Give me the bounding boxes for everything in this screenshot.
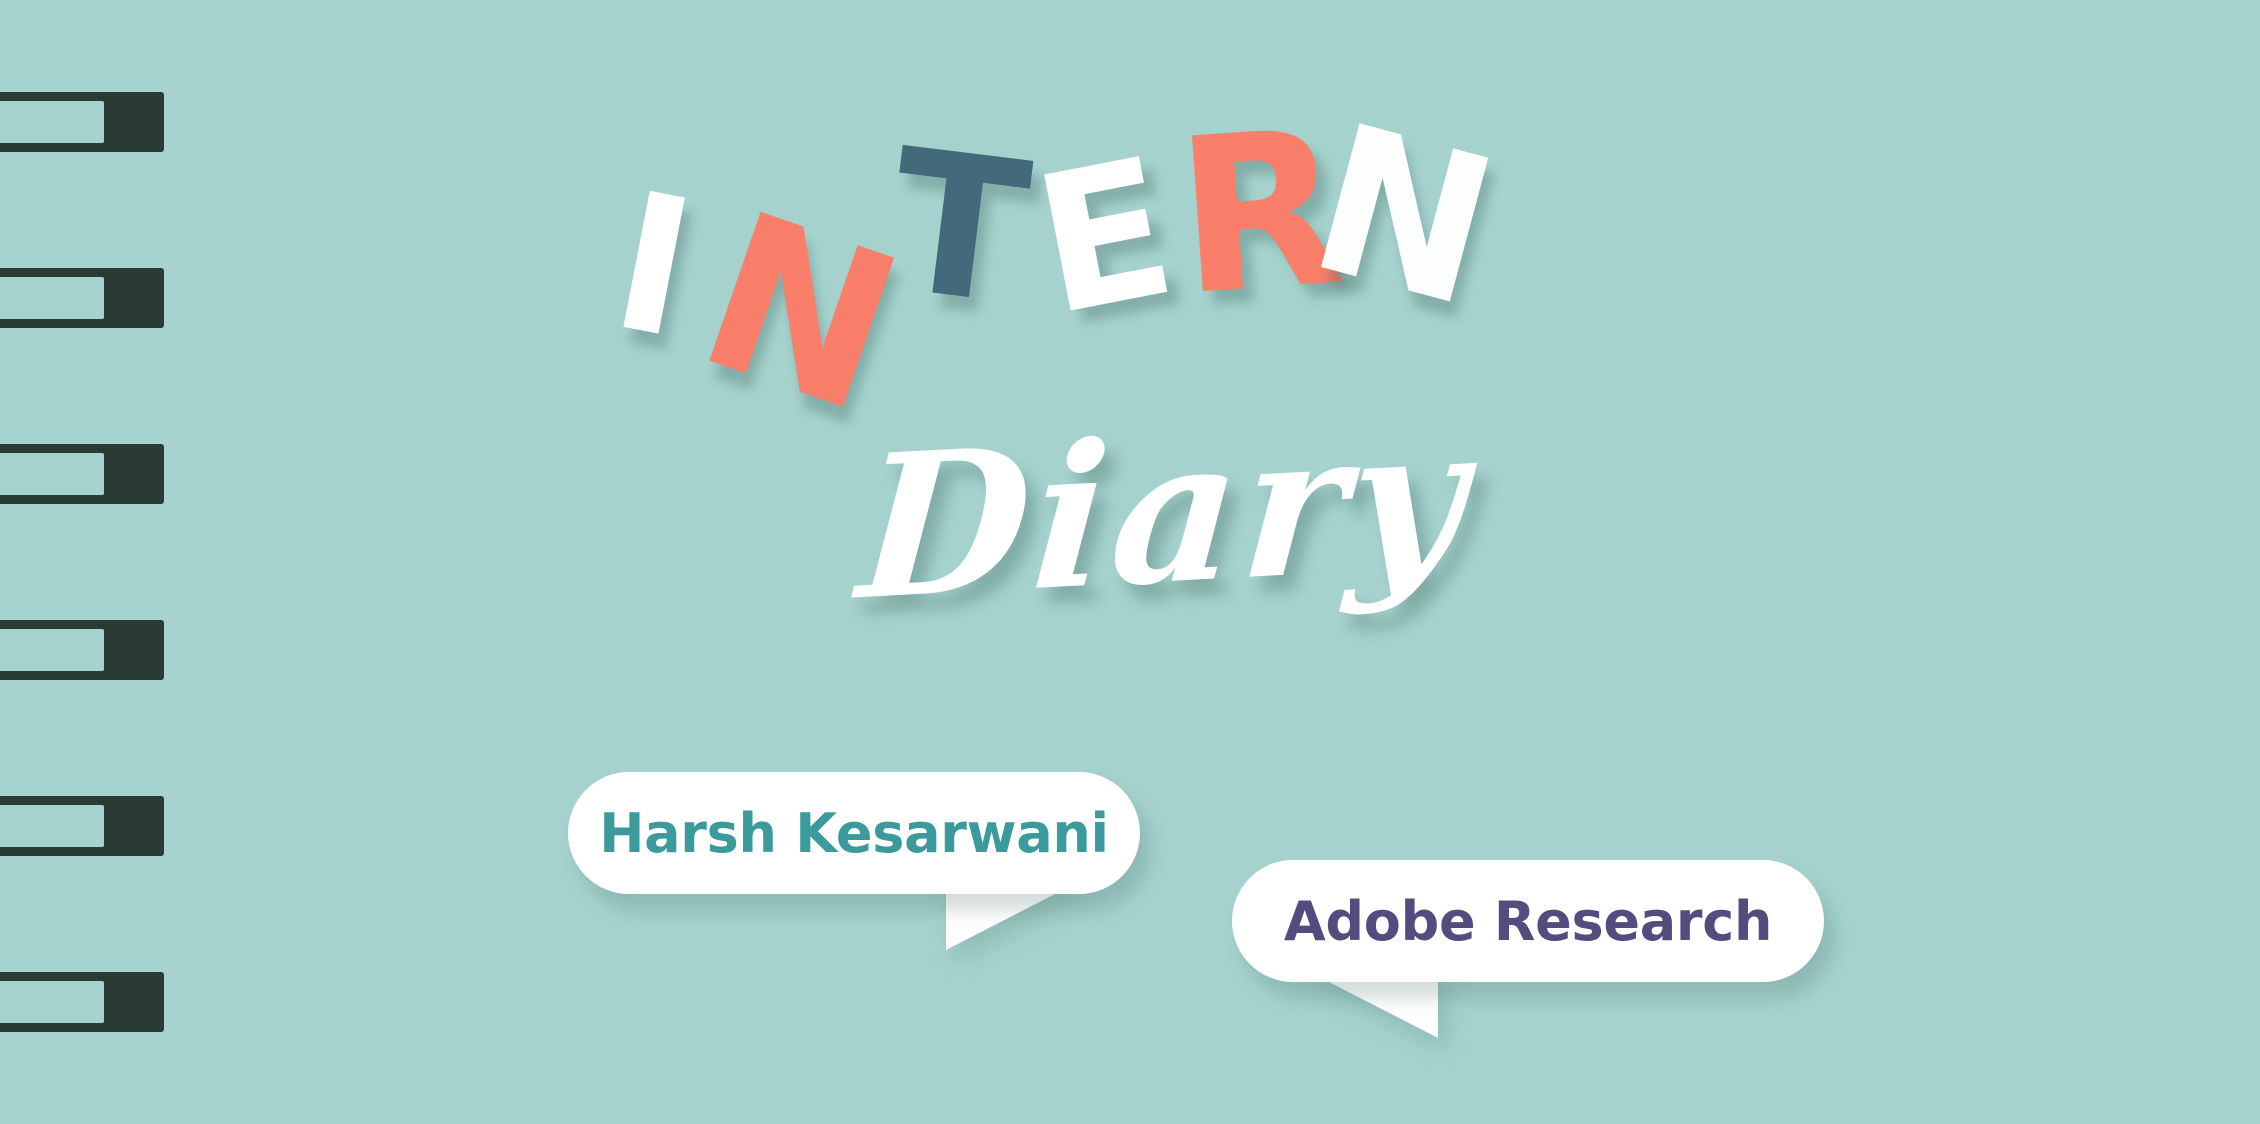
spiral-notebook-binding xyxy=(0,0,200,1124)
wordmark-letter-t: T xyxy=(881,128,1033,329)
speech-bubble-name-label: Harsh Kesarwani xyxy=(599,802,1109,865)
wordmark-letter-i: I xyxy=(601,171,701,361)
binding-ring xyxy=(0,444,164,504)
speech-bubble-name[interactable]: Harsh Kesarwani xyxy=(568,772,1140,894)
binding-ring xyxy=(0,620,164,680)
binding-ring-hole xyxy=(0,981,104,1023)
binding-ring-hole xyxy=(0,629,104,671)
binding-ring xyxy=(0,796,164,856)
binding-ring-hole xyxy=(0,805,104,847)
speech-bubble-org-label: Adobe Research xyxy=(1284,890,1772,953)
speech-bubble-org[interactable]: Adobe Research xyxy=(1232,860,1824,982)
wordmark-letter-n1: N xyxy=(681,187,915,438)
binding-ring xyxy=(0,92,164,152)
binding-ring-hole xyxy=(0,101,104,143)
diary-subtitle: Diary xyxy=(852,382,1476,645)
binding-ring-hole xyxy=(0,453,104,495)
intern-diary-slide: I N T E R N Diary Harsh Kesarwani Adobe … xyxy=(0,0,2260,1124)
wordmark-letter-e: E xyxy=(1024,138,1182,339)
binding-ring xyxy=(0,972,164,1032)
binding-ring-hole xyxy=(0,277,104,319)
binding-ring xyxy=(0,268,164,328)
